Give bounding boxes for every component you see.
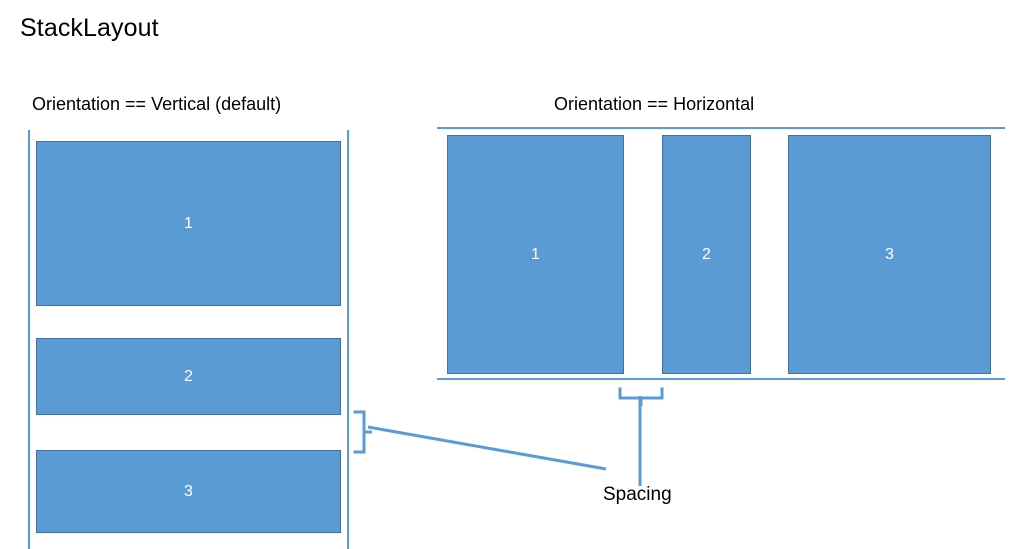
horizontal-stack-bottom-boundary bbox=[437, 378, 1005, 380]
spacing-leader-line-horizontal bbox=[637, 396, 643, 486]
vertical-orientation-caption: Orientation == Vertical (default) bbox=[32, 94, 281, 115]
vertical-stack-box-3-label: 3 bbox=[184, 483, 193, 501]
horizontal-stack-box-1-label: 1 bbox=[531, 246, 540, 264]
horizontal-stack-box-3[interactable]: 3 bbox=[788, 135, 991, 374]
horizontal-stack-box-3-label: 3 bbox=[885, 246, 894, 264]
vertical-stack-box-2-label: 2 bbox=[184, 368, 193, 386]
horizontal-stack-box-2[interactable]: 2 bbox=[662, 135, 751, 374]
page-title: StackLayout bbox=[20, 14, 159, 43]
horizontal-stack-box-2-label: 2 bbox=[702, 246, 711, 264]
vertical-stack-box-2[interactable]: 2 bbox=[36, 338, 341, 415]
vertical-stack-box-1[interactable]: 1 bbox=[36, 141, 341, 306]
spacing-leader-line-vertical bbox=[368, 425, 608, 471]
vertical-stack-box-1-label: 1 bbox=[184, 215, 193, 233]
horizontal-stack-box-1[interactable]: 1 bbox=[447, 135, 624, 374]
vertical-stack-right-boundary bbox=[347, 130, 349, 549]
horizontal-orientation-caption: Orientation == Horizontal bbox=[554, 94, 754, 115]
vertical-stack-left-boundary bbox=[28, 130, 30, 549]
horizontal-stack-top-boundary bbox=[437, 127, 1005, 129]
spacing-annotation-label: Spacing bbox=[603, 484, 672, 506]
vertical-stack-box-3[interactable]: 3 bbox=[36, 450, 341, 533]
